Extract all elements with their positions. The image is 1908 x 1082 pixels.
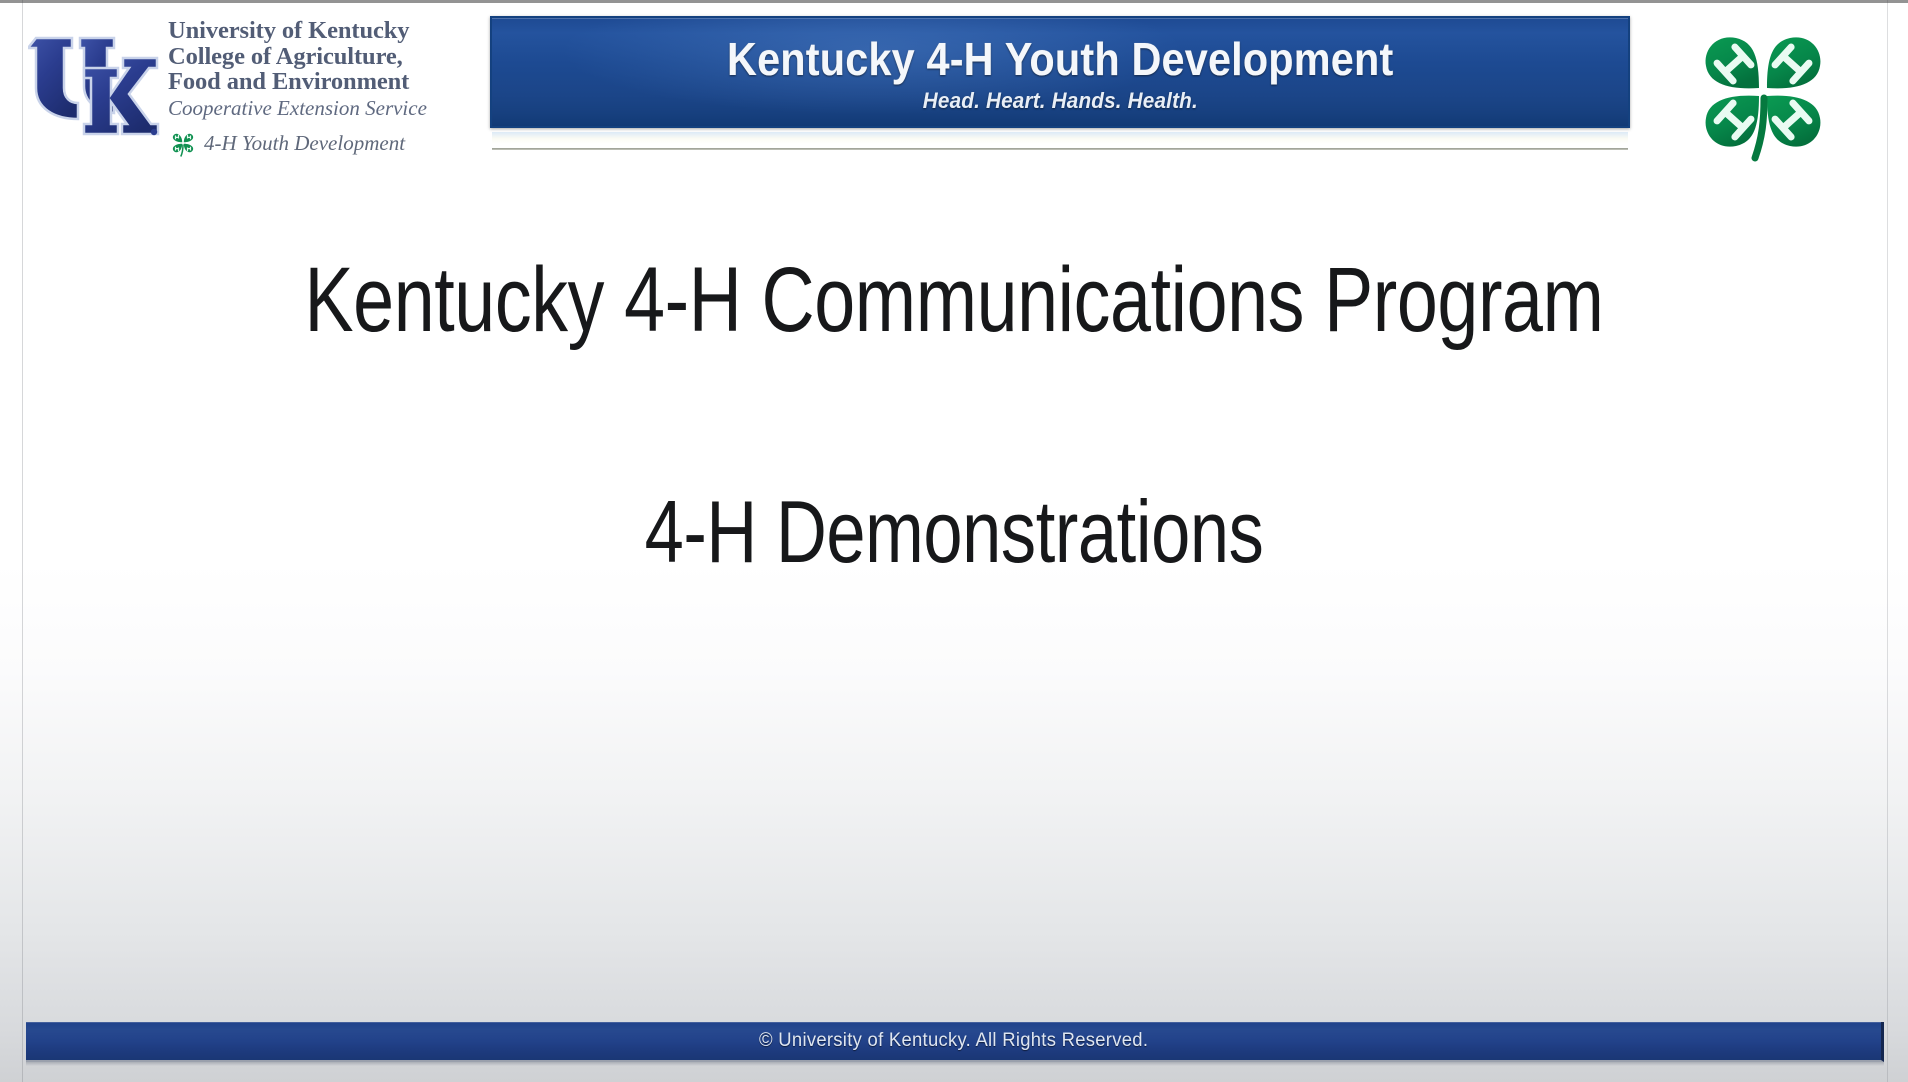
program-banner: Kentucky 4-H Youth Development Head. Hea… xyxy=(490,16,1630,128)
header-rule-glow xyxy=(492,132,1628,144)
uk-branding-block: University of Kentucky College of Agricu… xyxy=(28,18,468,168)
four-h-clover-icon xyxy=(1688,18,1838,170)
uk-line-food-environment: Food and Environment xyxy=(168,69,468,95)
uk-line-extension-service: Cooperative Extension Service xyxy=(168,95,468,121)
banner-tagline: Head. Heart. Hands. Health. xyxy=(922,88,1197,114)
uk-line-college: College of Agriculture, xyxy=(168,44,468,70)
banner-title: Kentucky 4-H Youth Development xyxy=(727,30,1393,84)
clover-small-icon xyxy=(168,128,198,158)
header-divider-rule xyxy=(492,148,1628,150)
uk-4h-youth-development-line: 4-H Youth Development xyxy=(168,128,405,158)
uk-institution-text: University of Kentucky College of Agricu… xyxy=(168,18,468,121)
slide-frame-left-edge xyxy=(22,0,23,1082)
slide-frame-right-edge xyxy=(1887,0,1888,1082)
slide-subtitle: 4-H Demonstrations xyxy=(191,482,1717,582)
uk-line-university: University of Kentucky xyxy=(168,18,468,44)
footer-copyright: © University of Kentucky. All Rights Res… xyxy=(759,1030,1148,1052)
presentation-slide: University of Kentucky College of Agricu… xyxy=(0,0,1908,1082)
slide-footer-bar: © University of Kentucky. All Rights Res… xyxy=(26,1022,1884,1062)
slide-header: University of Kentucky College of Agricu… xyxy=(0,0,1908,185)
footer-shadow xyxy=(26,1062,1884,1066)
uk-4h-label: 4-H Youth Development xyxy=(204,131,405,156)
uk-monogram-icon xyxy=(28,28,160,144)
slide-title: Kentucky 4-H Communications Program xyxy=(191,248,1717,352)
